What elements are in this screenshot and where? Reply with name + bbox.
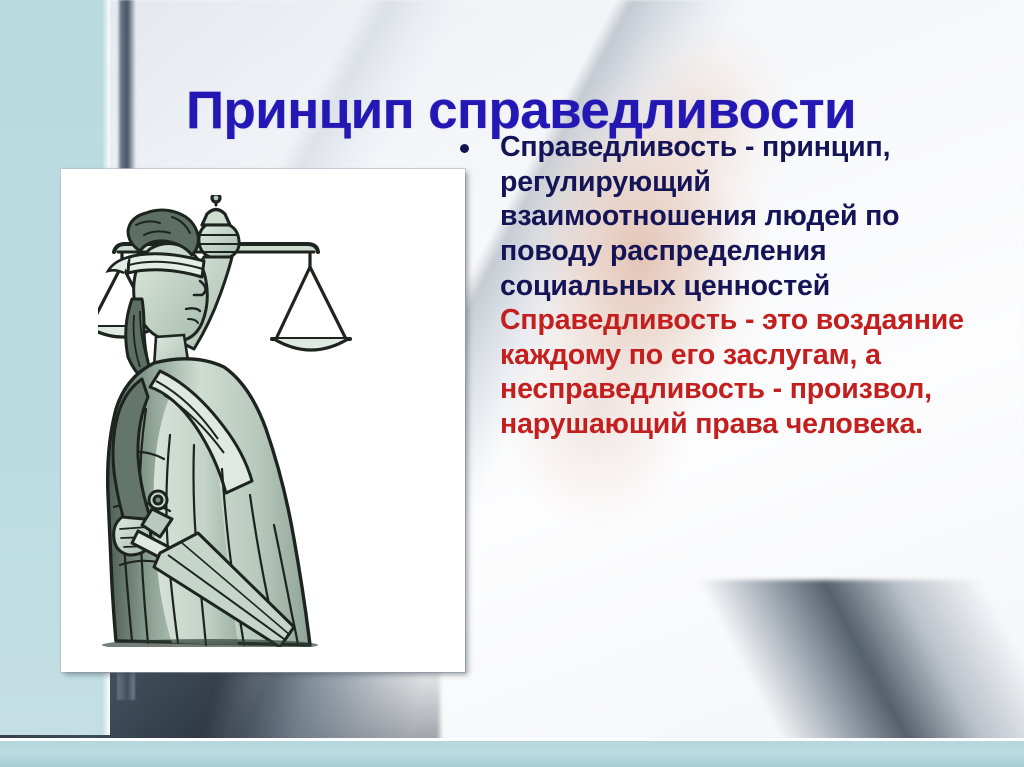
content-text-block: Справедливость - принцип, регулирующий в… — [452, 130, 972, 442]
bullet-list-item: Справедливость - принцип, регулирующий в… — [452, 130, 972, 442]
paragraph-justice-vs-injustice: Справедливость - это воздаяние каждому п… — [500, 303, 972, 442]
bullet-dot-icon — [460, 144, 469, 153]
paragraph-definition-justice: Справедливость - принцип, регулирующий в… — [500, 130, 972, 303]
background-shadow-wedge-right — [614, 580, 1024, 760]
image-frame-inner — [66, 174, 460, 667]
lady-justice-illustration — [98, 195, 428, 647]
bottom-accent-band — [0, 738, 1024, 767]
presentation-slide: Принцип справедливости — [0, 0, 1024, 767]
image-frame — [61, 169, 465, 672]
